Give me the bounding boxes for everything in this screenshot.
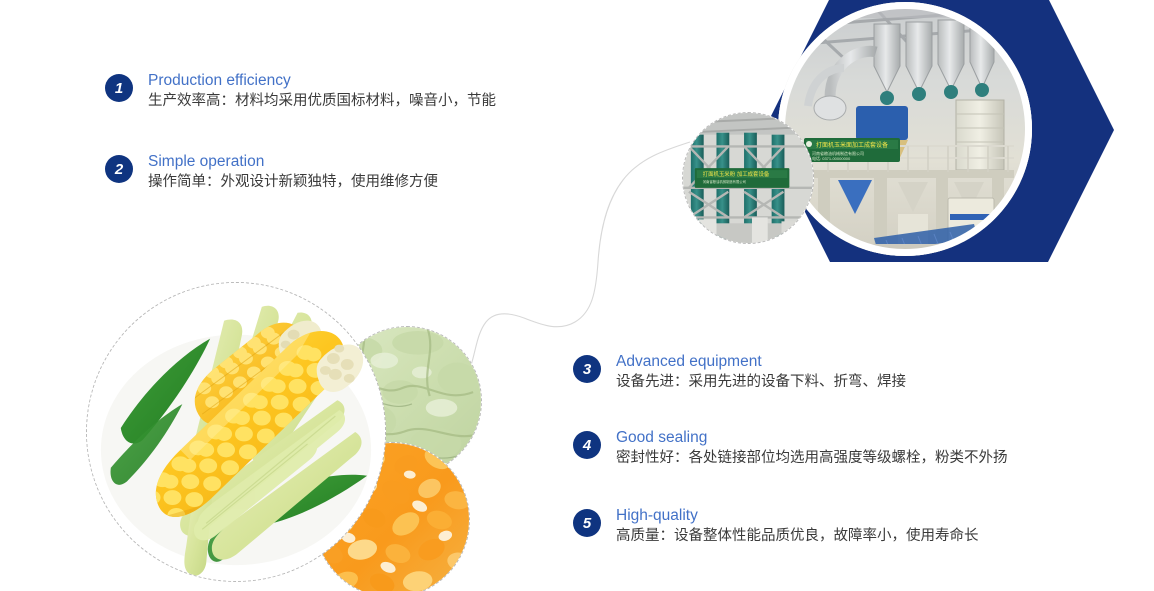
feature-badge-4: 4 — [573, 431, 601, 459]
feature-title-1: Production efficiency — [148, 71, 496, 90]
feature-desc-2: 操作简单：外观设计新颖独特，使用维修方便 — [148, 172, 438, 192]
svg-text:打面机玉米面加工成套设备: 打面机玉米面加工成套设备 — [816, 141, 888, 149]
feature-desc-1: 生产效率高：材料均采用优质国标材料，噪音小，节能 — [148, 91, 496, 111]
feature-item-1[interactable]: 1 Production efficiency 生产效率高：材料均采用优质国标材… — [105, 71, 496, 111]
feature-badge-3: 3 — [573, 355, 601, 383]
svg-text:打面机玉米粉 加工成套设备: 打面机玉米粉 加工成套设备 — [703, 170, 770, 178]
feature-title-4: Good sealing — [616, 428, 1008, 447]
feature-desc-3: 设备先进：采用先进的设备下料、折弯、焊接 — [616, 372, 906, 392]
equipment-photo-group: 打面机玉米面加工成套设备 河南省粮油机械制造有限公司 电话: 0371-0000… — [678, 0, 1154, 266]
feature-title-3: Advanced equipment — [616, 352, 906, 371]
green-milling-machine-photo: 打面机玉米粉 加工成套设备 河南省粮油机械制造有限公司 — [682, 112, 814, 244]
feature-text-3: Advanced equipment 设备先进：采用先进的设备下料、折弯、焊接 — [616, 352, 906, 392]
feature-badge-5: 5 — [573, 509, 601, 537]
feature-text-4: Good sealing 密封性好：各处链接部位均选用高强度等级螺栓，粉类不外扬 — [616, 428, 1008, 468]
feature-item-5[interactable]: 5 High-quality 高质量：设备整体性能品质优良，故障率小，使用寿命长 — [573, 506, 979, 546]
feature-text-1: Production efficiency 生产效率高：材料均采用优质国标材料，… — [148, 71, 496, 111]
svg-text:电话: 0371-00000000: 电话: 0371-00000000 — [812, 155, 851, 161]
feature-item-4[interactable]: 4 Good sealing 密封性好：各处链接部位均选用高强度等级螺栓，粉类不… — [573, 428, 1008, 468]
produce-photo-group — [86, 282, 486, 591]
feature-item-2[interactable]: 2 Simple operation 操作简单：外观设计新颖独特，使用维修方便 — [105, 152, 438, 192]
infographic-stage: 打面机玉米面加工成套设备 河南省粮油机械制造有限公司 电话: 0371-0000… — [0, 0, 1154, 591]
corn-cob-photo — [86, 282, 386, 582]
feature-desc-5: 高质量：设备整体性能品质优良，故障率小，使用寿命长 — [616, 526, 979, 546]
flour-milling-plant-photo: 打面机玉米面加工成套设备 河南省粮油机械制造有限公司 电话: 0371-0000… — [778, 2, 1032, 256]
feature-desc-4: 密封性好：各处链接部位均选用高强度等级螺栓，粉类不外扬 — [616, 448, 1008, 468]
svg-text:河南省粮油机械制造有限公司: 河南省粮油机械制造有限公司 — [703, 179, 746, 184]
feature-title-2: Simple operation — [148, 152, 438, 171]
feature-badge-2: 2 — [105, 155, 133, 183]
feature-text-2: Simple operation 操作简单：外观设计新颖独特，使用维修方便 — [148, 152, 438, 192]
feature-badge-1: 1 — [105, 74, 133, 102]
feature-text-5: High-quality 高质量：设备整体性能品质优良，故障率小，使用寿命长 — [616, 506, 979, 546]
feature-title-5: High-quality — [616, 506, 979, 525]
feature-item-3[interactable]: 3 Advanced equipment 设备先进：采用先进的设备下料、折弯、焊… — [573, 352, 906, 392]
